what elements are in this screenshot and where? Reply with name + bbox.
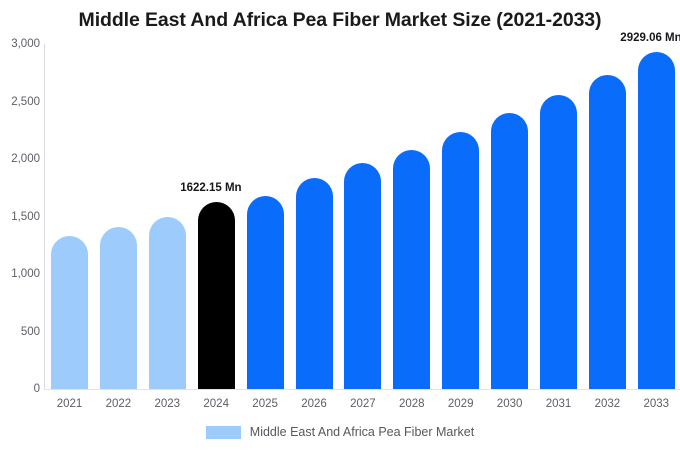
y-axis-tick-label: 3,000 bbox=[2, 38, 40, 50]
x-axis-tick-label: 2025 bbox=[241, 398, 289, 410]
x-axis-tick-label: 2027 bbox=[339, 398, 387, 410]
legend-item-label: Middle East And Africa Pea Fiber Market bbox=[250, 425, 474, 439]
bar-2026[interactable] bbox=[296, 178, 333, 389]
y-axis-tick-label: 1,500 bbox=[2, 211, 40, 223]
bar-2033[interactable] bbox=[638, 52, 675, 389]
bar-2024[interactable] bbox=[198, 202, 235, 389]
x-axis-tick-label: 2021 bbox=[46, 398, 94, 410]
x-axis-tick-label: 2028 bbox=[388, 398, 436, 410]
x-axis-tick-label: 2031 bbox=[535, 398, 583, 410]
y-axis-tick-label: 2,000 bbox=[2, 153, 40, 165]
x-axis-tick-label: 2022 bbox=[94, 398, 142, 410]
x-axis-tick-label: 2023 bbox=[143, 398, 191, 410]
chart-legend: Middle East And Africa Pea Fiber Market bbox=[0, 425, 680, 439]
bar-2022[interactable] bbox=[100, 227, 137, 389]
x-axis-tick-label: 2029 bbox=[437, 398, 485, 410]
y-axis: 05001,0001,5002,0002,5003,000 bbox=[0, 0, 40, 450]
chart-title: Middle East And Africa Pea Fiber Market … bbox=[0, 9, 680, 32]
data-label-2024: 1622.15 Mn bbox=[180, 182, 241, 194]
bar-2028[interactable] bbox=[393, 150, 430, 389]
data-label-2033: 2929.06 Mn bbox=[620, 32, 680, 44]
x-axis-tick-label: 2033 bbox=[632, 398, 680, 410]
bar-chart: Middle East And Africa Pea Fiber Market … bbox=[0, 0, 680, 450]
bar-2029[interactable] bbox=[442, 132, 479, 389]
bar-2021[interactable] bbox=[51, 236, 88, 389]
legend-swatch-icon bbox=[206, 426, 241, 439]
bar-2030[interactable] bbox=[491, 113, 528, 389]
y-axis-tick-label: 500 bbox=[2, 326, 40, 338]
bar-2023[interactable] bbox=[149, 217, 186, 389]
bar-2025[interactable] bbox=[247, 196, 284, 389]
x-axis-tick-label: 2026 bbox=[290, 398, 338, 410]
x-axis-tick-label: 2032 bbox=[583, 398, 631, 410]
x-axis-tick-label: 2030 bbox=[486, 398, 534, 410]
y-axis-tick-label: 2,500 bbox=[2, 96, 40, 108]
y-axis-tick-label: 0 bbox=[2, 383, 40, 395]
plot-area bbox=[44, 44, 680, 389]
bar-2032[interactable] bbox=[589, 75, 626, 389]
x-axis-line bbox=[44, 389, 680, 390]
bar-2027[interactable] bbox=[344, 163, 381, 389]
x-axis-tick-label: 2024 bbox=[192, 398, 240, 410]
bar-2031[interactable] bbox=[540, 95, 577, 389]
y-axis-tick-label: 1,000 bbox=[2, 268, 40, 280]
